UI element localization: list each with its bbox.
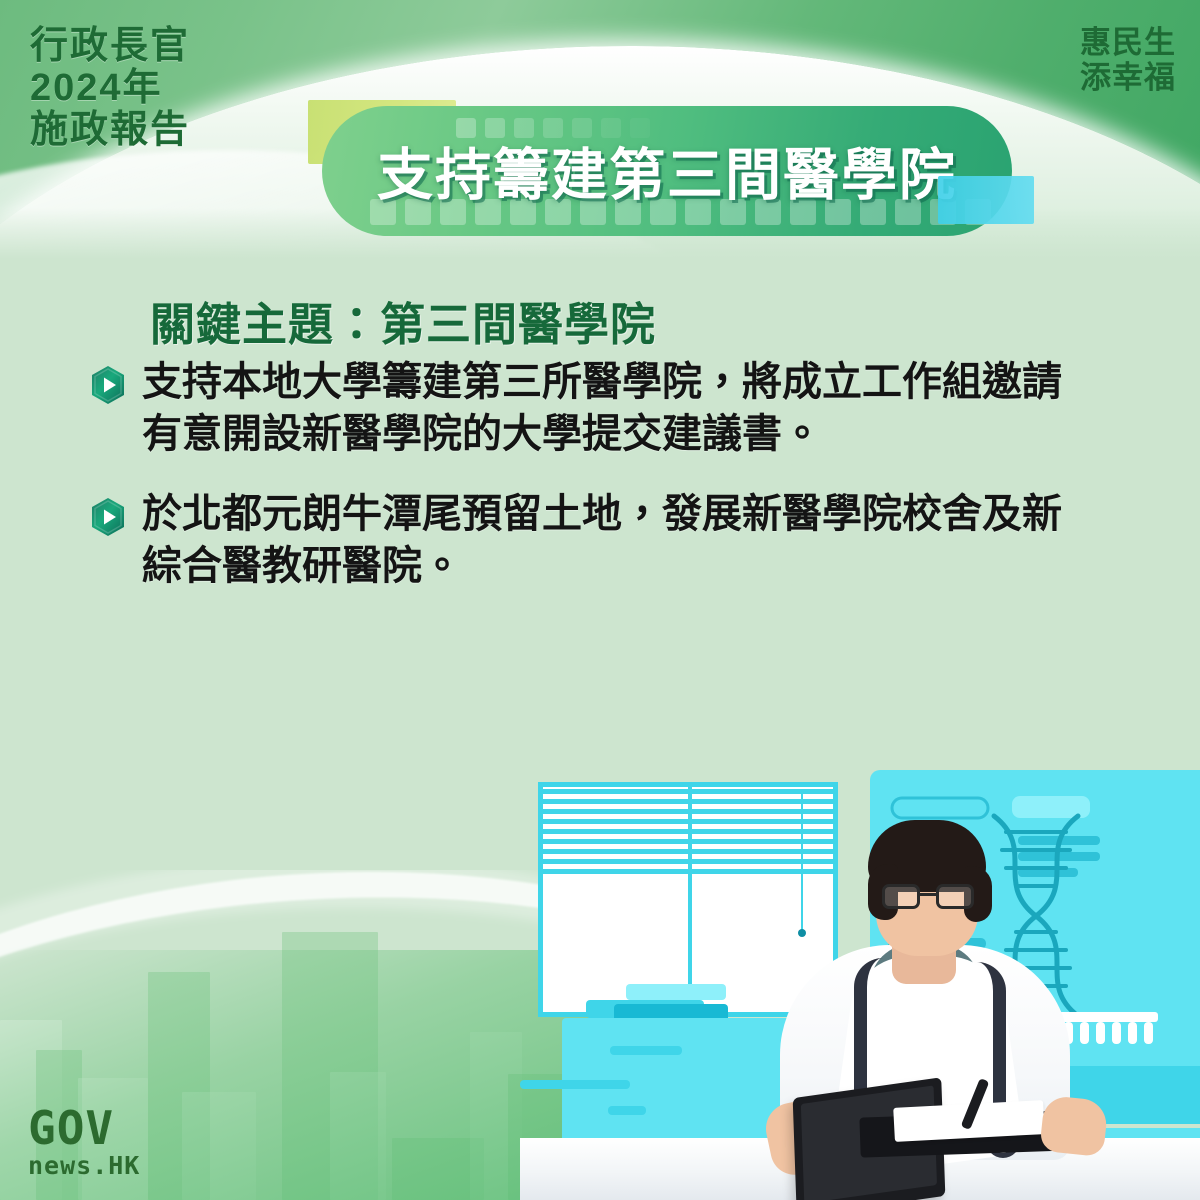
page-title: 支持籌建第三間醫學院: [322, 131, 1012, 212]
accent-block-cyan: [938, 176, 1034, 224]
play-hexagon-icon: [90, 365, 126, 405]
kicker-line-2: 2024年: [30, 68, 270, 110]
logo-secondary-text: news.HK: [28, 1153, 140, 1178]
bullet-list: 支持本地大學籌建第三所醫學院，將成立工作組邀請有意開設新醫學院的大學提交建議書。: [90, 356, 1100, 620]
logo-primary-text: GOV: [28, 1105, 140, 1151]
report-kicker: 行政長官 2024年 施政報告: [30, 26, 270, 151]
govnews-logo[interactable]: GOV news.HK: [28, 1105, 140, 1178]
section-heading: 關鍵主題：第三間醫學院: [150, 288, 656, 353]
doctor-figure: [758, 770, 1088, 1160]
doctor-illustration: [520, 770, 1200, 1200]
kicker-line-1: 行政長官: [30, 26, 270, 68]
glasses-icon: [882, 884, 974, 910]
kicker-line-3: 施政報告: [30, 110, 270, 152]
tagline-line-2: 添幸福: [1080, 61, 1176, 96]
list-item: 支持本地大學籌建第三所醫學院，將成立工作組邀請有意開設新醫學院的大學提交建議書。: [90, 356, 1100, 460]
infographic-canvas: 行政長官 2024年 施政報告 惠民生 添幸福 支持籌建第三間醫學院: [0, 0, 1200, 1200]
list-item-text: 支持本地大學籌建第三所醫學院，將成立工作組邀請有意開設新醫學院的大學提交建議書。: [142, 356, 1100, 460]
title-pill: 支持籌建第三間醫學院: [322, 106, 1012, 236]
report-tagline: 惠民生 添幸福: [1080, 26, 1176, 95]
title-banner: 支持籌建第三間醫學院: [322, 106, 1012, 236]
play-hexagon-icon: [90, 497, 126, 537]
list-item: 於北都元朗牛潭尾預留土地，發展新醫學院校舍及新綜合醫教研醫院。: [90, 488, 1100, 592]
tagline-line-1: 惠民生: [1080, 26, 1176, 61]
list-item-text: 於北都元朗牛潭尾預留土地，發展新醫學院校舍及新綜合醫教研醫院。: [142, 488, 1100, 592]
window-mullion: [688, 787, 692, 1012]
